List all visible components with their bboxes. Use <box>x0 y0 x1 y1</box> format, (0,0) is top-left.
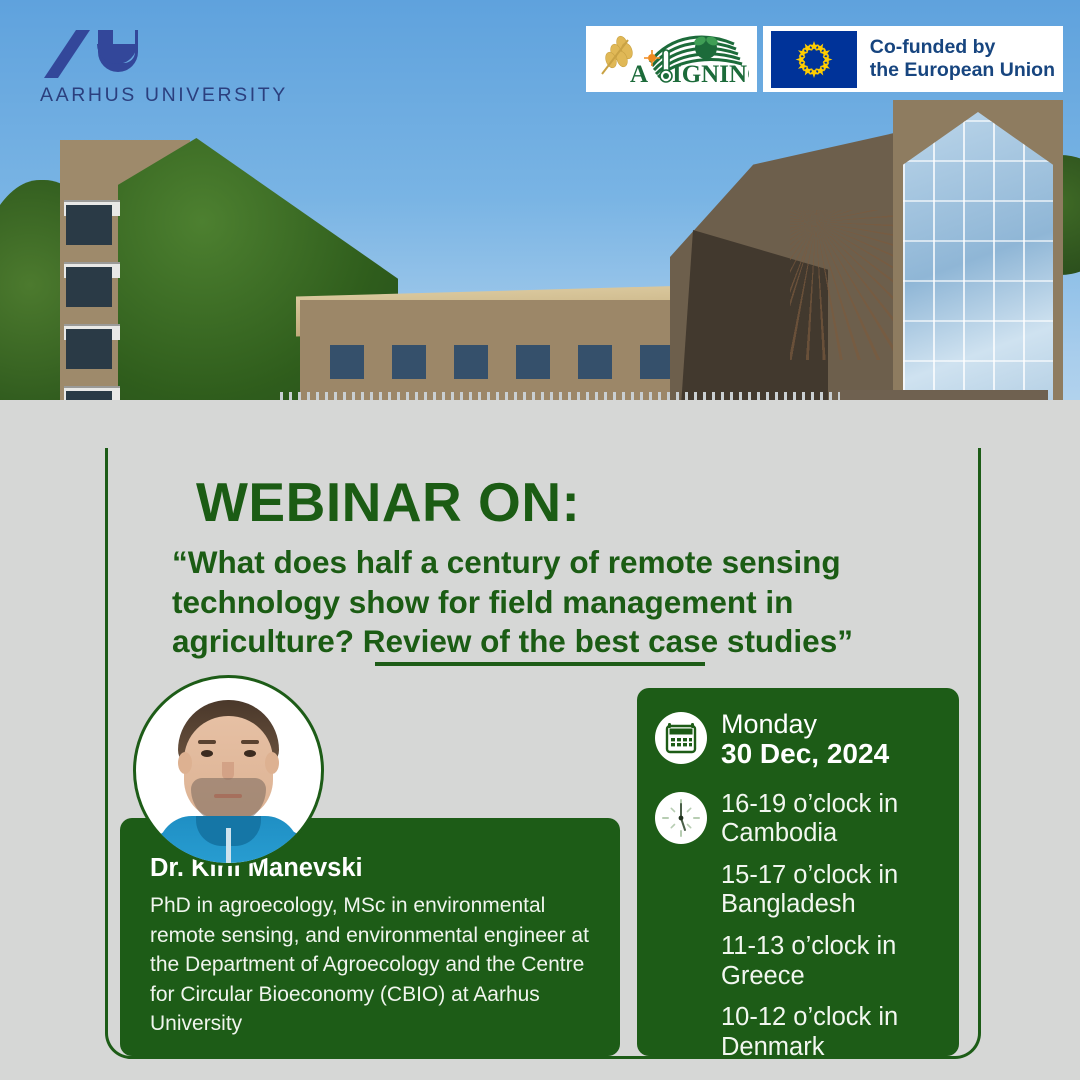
calendar-icon <box>655 712 707 764</box>
webinar-poster: AARHUS UNIVERSITY <box>0 0 1080 1080</box>
list-item: 11-13 o’clock in Greece <box>721 932 941 991</box>
list-item: 15-17 o’clock in Bangladesh <box>721 861 941 920</box>
window <box>454 345 488 379</box>
eye <box>244 750 256 757</box>
date-row: Monday 30 Dec, 2024 <box>655 710 941 770</box>
eu-funding-line-1: Co-funded by <box>870 36 1055 59</box>
eu-funding-text: Co-funded by the European Union <box>870 36 1055 82</box>
window <box>66 205 112 245</box>
speaker-bio-text: PhD in agroecology, MSc in environmental… <box>150 891 590 1039</box>
european-union-flag-icon <box>771 31 857 88</box>
window <box>66 329 112 369</box>
eyebrow <box>241 740 259 744</box>
zipper <box>226 828 231 866</box>
window <box>516 345 550 379</box>
clock-icon <box>655 792 707 844</box>
webinar-subtitle: “What does half a century of remote sens… <box>172 543 882 662</box>
eye <box>201 750 213 757</box>
mouth <box>214 794 242 798</box>
svg-text:IGNING: IGNING <box>672 61 749 86</box>
aligning-project-logo-icon: A IGNING <box>586 26 757 92</box>
university-name: AARHUS UNIVERSITY <box>40 84 288 107</box>
au-monogram-icon <box>42 28 138 85</box>
window <box>578 345 612 379</box>
timezone-list: 16-19 o’clock in Cambodia 15-17 o’clock … <box>721 790 941 1075</box>
eyebrow <box>198 740 216 744</box>
ear <box>178 752 192 774</box>
window <box>640 345 674 379</box>
weekday: Monday <box>721 710 889 738</box>
window <box>330 345 364 379</box>
date-text: Monday 30 Dec, 2024 <box>721 710 889 770</box>
svg-text:A: A <box>630 61 648 86</box>
page-title: WEBINAR ON: <box>196 470 580 534</box>
window <box>392 345 426 379</box>
ear <box>265 752 279 774</box>
list-item: 16-19 o’clock in Cambodia <box>721 790 941 849</box>
eu-funding-line-2: the European Union <box>870 59 1055 82</box>
speaker-portrait <box>133 675 324 866</box>
schedule-card: Monday 30 Dec, 2024 16-19 o’clock i <box>637 688 959 1056</box>
list-item: 10-12 o’clock in Denmark <box>721 1003 941 1062</box>
partner-logos: A IGNING <box>586 26 1063 92</box>
times-row: 16-19 o’clock in Cambodia 15-17 o’clock … <box>655 790 941 1075</box>
window <box>66 267 112 307</box>
title-divider <box>375 662 705 666</box>
event-date: 30 Dec, 2024 <box>721 738 889 769</box>
eu-cofunded-logo: Co-funded by the European Union <box>763 26 1063 92</box>
